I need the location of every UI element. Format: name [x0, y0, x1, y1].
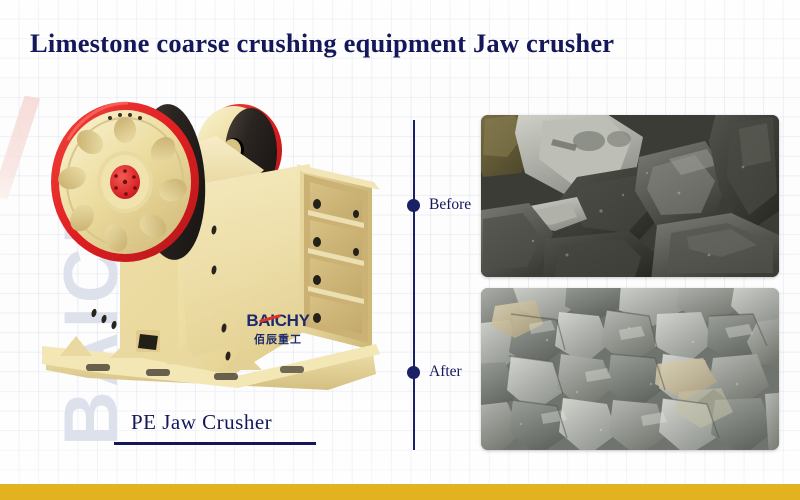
timeline-label-after: After [429, 363, 462, 381]
footer-accent-bar [0, 484, 800, 500]
timeline-axis [413, 120, 415, 450]
timeline-dot-icon [407, 199, 420, 212]
machine-caption-underline [114, 442, 316, 445]
photo-after [481, 288, 779, 450]
photo-before [481, 115, 779, 277]
timeline-dot-icon [407, 366, 420, 379]
page-title: Limestone coarse crushing equipment Jaw … [30, 28, 614, 59]
timeline-label-before: Before [429, 196, 471, 214]
slide-canvas: BAICHY Limestone coarse crushing equipme… [0, 0, 800, 500]
jaw-crusher-image: BAICHY 佰辰重工 [28, 78, 400, 403]
machine-caption: PE Jaw Crusher [131, 410, 272, 435]
